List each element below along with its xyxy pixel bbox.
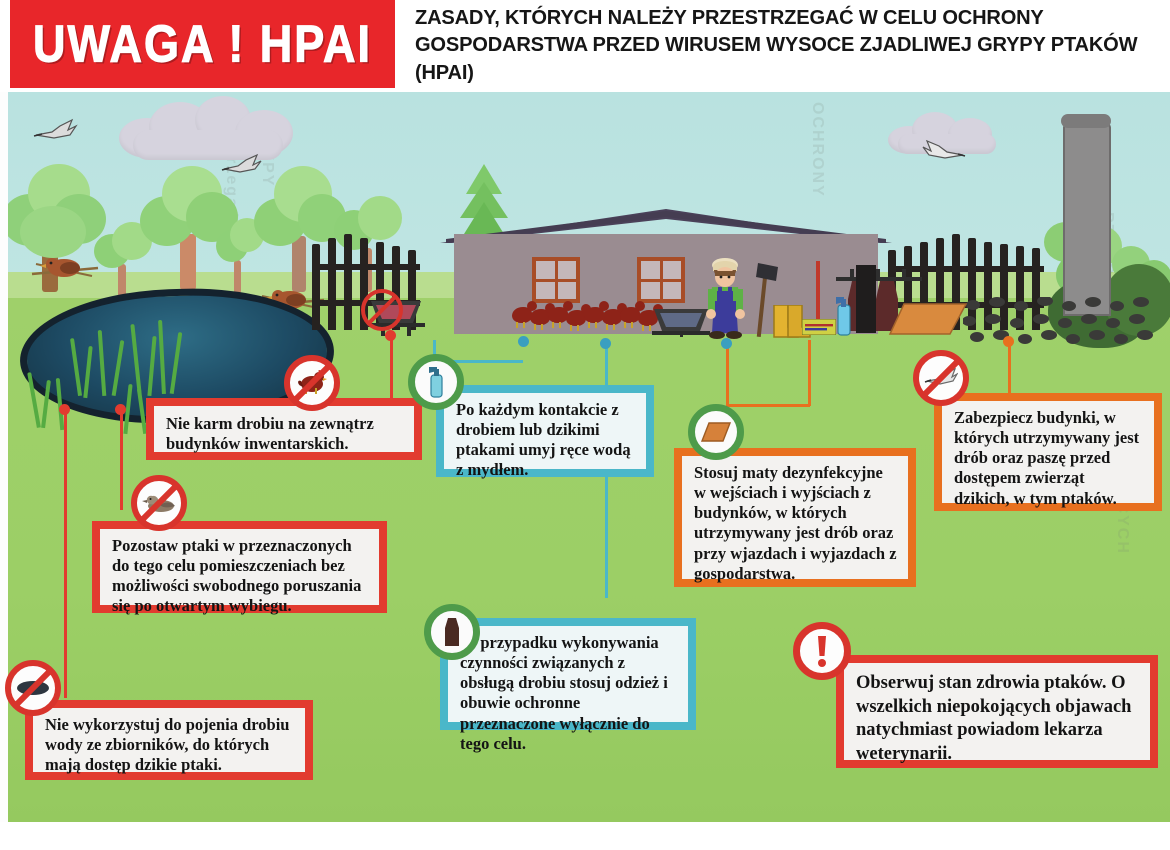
barn-doorway: [856, 265, 876, 333]
hen: [530, 309, 550, 325]
rule-card-wash-hands: Po każdym kontakcie z drobiem lub dzikim…: [436, 385, 654, 477]
connector-dot: [115, 404, 126, 415]
no-duck-icon: [131, 475, 187, 531]
connector-line: [1008, 342, 1011, 400]
rule-text: Zabezpiecz budynki, w których utrzymywan…: [942, 401, 1154, 503]
rule-text: Stosuj maty dezynfekcyjne w wejściach i …: [682, 456, 908, 579]
connector-line: [808, 340, 811, 406]
rule-text: Obserwuj stan zdrowia ptaków. O wszelkic…: [844, 663, 1150, 760]
exclamation-glyph: [805, 634, 839, 668]
grain-silo: [1063, 122, 1111, 316]
no-outdoor-feeder-overlay-icon: [354, 288, 420, 336]
exclamation-icon: [793, 622, 851, 680]
poster-header: UWAGA ! HPAI ZASADY, KTÓRYCH NALEŻY PRZE…: [0, 0, 1170, 92]
spray-bottle-glyph: [419, 365, 453, 399]
rule-text: Pozostaw ptaki w przeznaczonych do tego …: [100, 529, 379, 605]
scan-ghost-text: OCHRONY: [808, 102, 826, 198]
poultry-barn: [440, 209, 892, 333]
poster-root: UWAGA ! HPAI ZASADY, KTÓRYCH NALEŻY PRZE…: [0, 0, 1170, 850]
farmer-figure: [698, 257, 754, 339]
rule-text: Nie karm drobiu na zewnątrz budynków inw…: [154, 406, 414, 452]
apron-glyph: [435, 615, 469, 649]
connector-line: [390, 336, 393, 402]
rule-card-no-outdoor-feeding: Nie karm drobiu na zewnątrz budynków inw…: [146, 398, 422, 460]
rule-text: Po każdym kontakcie z drobiem lub dzikim…: [444, 393, 646, 469]
flying-wild-bird-icon: [32, 116, 88, 146]
connector-dot: [721, 338, 732, 349]
rule-card-no-surface-water: Nie wykorzystuj do pojenia drobiu wody z…: [25, 700, 313, 780]
no-wild-bird-icon: [913, 350, 969, 406]
connector-line: [726, 344, 729, 404]
hen: [548, 307, 568, 323]
barn-window: [637, 257, 685, 303]
hen: [620, 307, 640, 323]
no-pond-water-icon: [5, 660, 61, 716]
cloud-left: [113, 96, 303, 158]
warning-sign: [802, 319, 836, 335]
connector-dot: [600, 338, 611, 349]
rule-card-monitor-health: Obserwuj stan zdrowia ptaków. O wszelkic…: [836, 655, 1158, 768]
rule-card-keep-birds-indoors: Pozostaw ptaki w przeznaczonych do tego …: [92, 521, 387, 613]
connector-dot: [385, 330, 396, 341]
ground-disinfection-mat: [888, 300, 968, 340]
rule-card-disinfection-mats: Stosuj maty dezynfekcyjne w wejściach i …: [674, 448, 916, 587]
page-title: ZASADY, KTÓRYCH NALEŻY PRZESTRZEGAĆ W CE…: [415, 4, 1145, 86]
spray-bottle: [832, 295, 854, 337]
rule-text: Nie wykorzystuj do pojenia drobiu wody z…: [33, 708, 305, 772]
barn-window: [532, 257, 580, 303]
connector-line: [120, 410, 123, 510]
nesting-bird: [30, 252, 100, 288]
spray-bottle-icon: [408, 354, 464, 410]
flying-wild-bird-icon: [913, 138, 969, 166]
connector-dot: [1003, 336, 1014, 347]
alert-badge-label: UWAGA ! HPAI: [33, 14, 372, 74]
hen: [566, 310, 586, 326]
connector-line: [64, 410, 67, 698]
mat-glyph: [699, 415, 733, 449]
no-hen-icon: [284, 355, 340, 411]
hen: [602, 309, 622, 325]
alert-badge: UWAGA ! HPAI: [10, 0, 395, 88]
gravel-path: [963, 297, 1163, 351]
hen: [512, 307, 532, 323]
rule-card-secure-buildings: Zabezpiecz budynki, w których utrzymywan…: [934, 393, 1162, 511]
connector-line: [726, 404, 810, 407]
disinfection-mat-icon: [688, 404, 744, 460]
poster-footer: [0, 822, 1170, 850]
rule-text: W przypadku wykonywania czynności związa…: [448, 626, 688, 722]
apron-icon: [424, 604, 480, 660]
connector-dot: [518, 336, 529, 347]
connector-dot: [59, 404, 70, 415]
hen: [584, 307, 604, 323]
